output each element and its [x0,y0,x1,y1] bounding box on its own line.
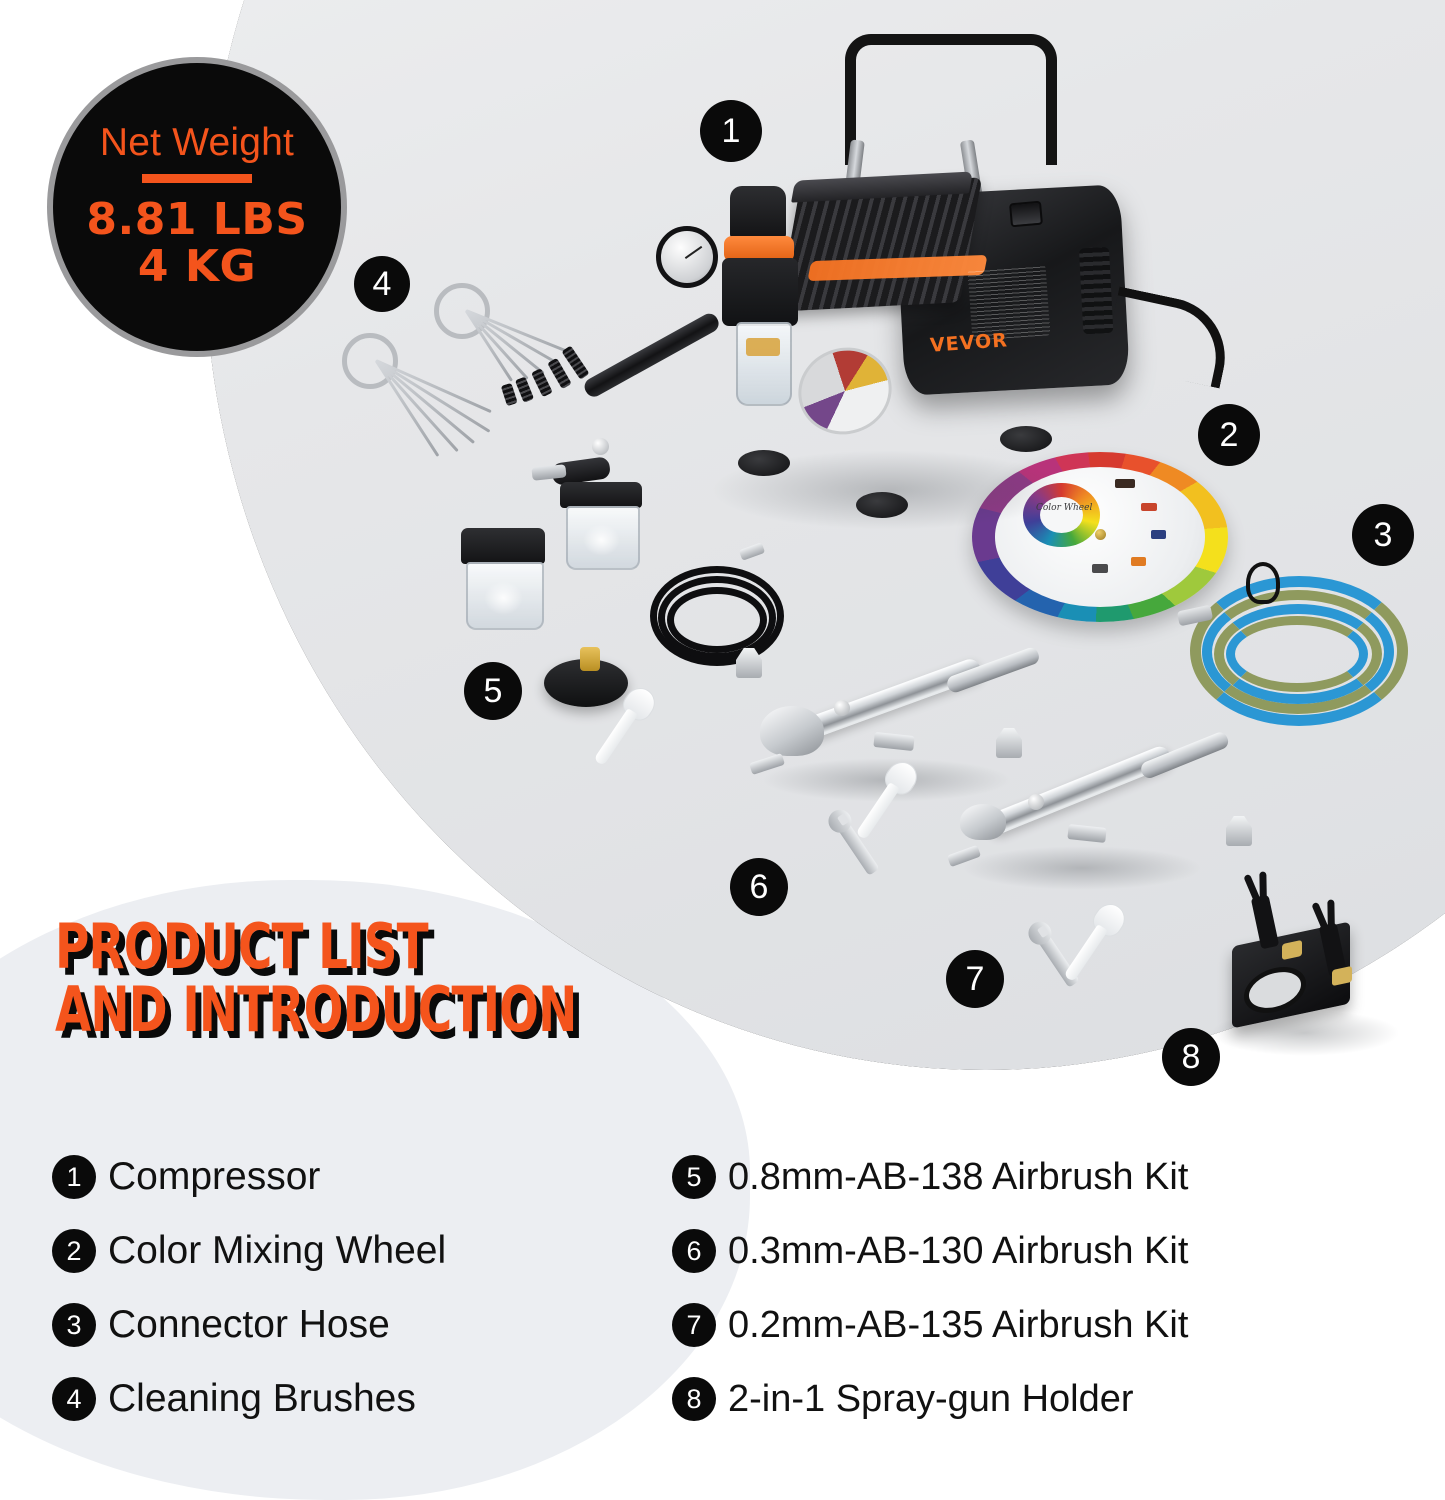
color-wheel-hub [1095,529,1106,540]
compressor-handle-icon [845,34,1057,165]
compressor-color-disc [787,336,903,447]
legend-item-7: 7 0.2mm-AB-135 Airbrush Kit [672,1288,1312,1362]
legend-number-3: 3 [52,1303,96,1347]
cleaning-needle [375,359,475,444]
legend-number-5: 5 [672,1155,716,1199]
legend-label-1: Compressor [108,1155,320,1199]
legend-item-1: 1 Compressor [52,1140,652,1214]
legend-column-left: 1 Compressor 2 Color Mixing Wheel 3 Conn… [52,1140,652,1436]
jar-glass [566,506,640,570]
compressor-spec-label [968,265,1051,340]
legend-number-1: 1 [52,1155,96,1199]
legend-label-7: 0.2mm-AB-135 Airbrush Kit [728,1304,1188,1347]
color-chip [1092,564,1108,573]
net-weight-badge: Net Weight 8.81 LBS 4 KG [47,57,347,357]
infographic-canvas: VEVOR [0,0,1445,1445]
pressure-gauge-icon [656,226,718,288]
braided-connector-hose-photo [1190,566,1420,746]
color-chip [1131,557,1146,566]
page-title: PRODUCT LIST AND INTRODUCTION [55,915,676,1041]
legend-label-2: Color Mixing Wheel [108,1229,446,1273]
spray-gun-holder-photo [1200,860,1410,1060]
net-weight-kg: 4 KG [138,244,256,291]
airbrush-air-inlet [873,732,914,751]
legend-label-3: Connector Hose [108,1303,390,1347]
marker-6: 6 [730,858,788,916]
legend-item-6: 6 0.3mm-AB-130 Airbrush Kit [672,1214,1312,1288]
legend-column-right: 5 0.8mm-AB-138 Airbrush Kit 6 0.3mm-AB-1… [672,1140,1312,1436]
black-coil-hose-photo [650,560,780,670]
legend-item-2: 2 Color Mixing Wheel [52,1214,652,1288]
brush-shaft [465,309,558,365]
legend-label-5: 0.8mm-AB-138 Airbrush Kit [728,1156,1188,1199]
ab-138-airbrush-photo [528,376,738,566]
marker-2: 2 [1198,404,1260,466]
airbrush-trigger [834,700,850,716]
paint-jar [560,482,642,566]
product-legend: 1 Compressor 2 Color Mixing Wheel 3 Conn… [52,1140,1402,1436]
marker-4: 4 [354,256,410,312]
legend-item-8: 8 2-in-1 Spray-gun Holder [672,1362,1312,1436]
hose-coil [667,587,767,653]
airbrush-trigger [1028,794,1044,810]
rubber-foot [1000,426,1052,452]
marker-5: 5 [464,662,522,720]
rubber-foot [856,492,908,518]
marker-1: 1 [700,100,762,162]
legend-number-2: 2 [52,1229,96,1273]
jar-glass [466,562,544,630]
regulator-body [722,258,798,326]
legend-item-5: 5 0.8mm-AB-138 Airbrush Kit [672,1140,1312,1214]
ab-135-airbrush-photo [952,760,1242,900]
bristle-head [501,383,518,406]
airbrush-air-inlet [1067,824,1106,843]
airbrush-trigger [592,438,609,455]
legend-number-8: 8 [672,1377,716,1421]
hose-coil [1226,616,1368,692]
net-weight-lbs: 8.81 LBS [86,197,307,244]
brass-fitting [580,647,600,671]
airbrush-shadow [962,846,1202,890]
page-title-line-2: AND INTRODUCTION [55,978,577,1041]
side-feed-cup [960,804,1006,840]
legend-label-8: 2-in-1 Spray-gun Holder [728,1378,1134,1421]
net-weight-title: Net Weight [100,123,294,162]
legend-label-4: Cleaning Brushes [108,1377,416,1421]
power-switch-icon [1009,201,1043,228]
cable-tie [1246,562,1280,604]
legend-number-4: 4 [52,1377,96,1421]
page-title-line-1: PRODUCT LIST [55,915,577,978]
brush-shaft [465,309,545,374]
legend-label-6: 0.3mm-AB-130 Airbrush Kit [728,1230,1188,1273]
gravity-feed-cup [760,706,824,756]
rubber-foot [738,450,790,476]
marker-7: 7 [946,950,1004,1008]
net-weight-divider [142,174,252,183]
moisture-trap-bowl [736,322,792,406]
color-chip [1151,530,1166,539]
legend-number-6: 6 [672,1229,716,1273]
legend-item-4: 4 Cleaning Brushes [52,1362,652,1436]
marker-8: 8 [1162,1028,1220,1086]
regulator-knob [730,186,786,240]
marker-3: 3 [1352,504,1414,566]
jar-cap [560,482,642,508]
legend-item-3: 3 Connector Hose [52,1288,652,1362]
legend-number-7: 7 [672,1303,716,1347]
